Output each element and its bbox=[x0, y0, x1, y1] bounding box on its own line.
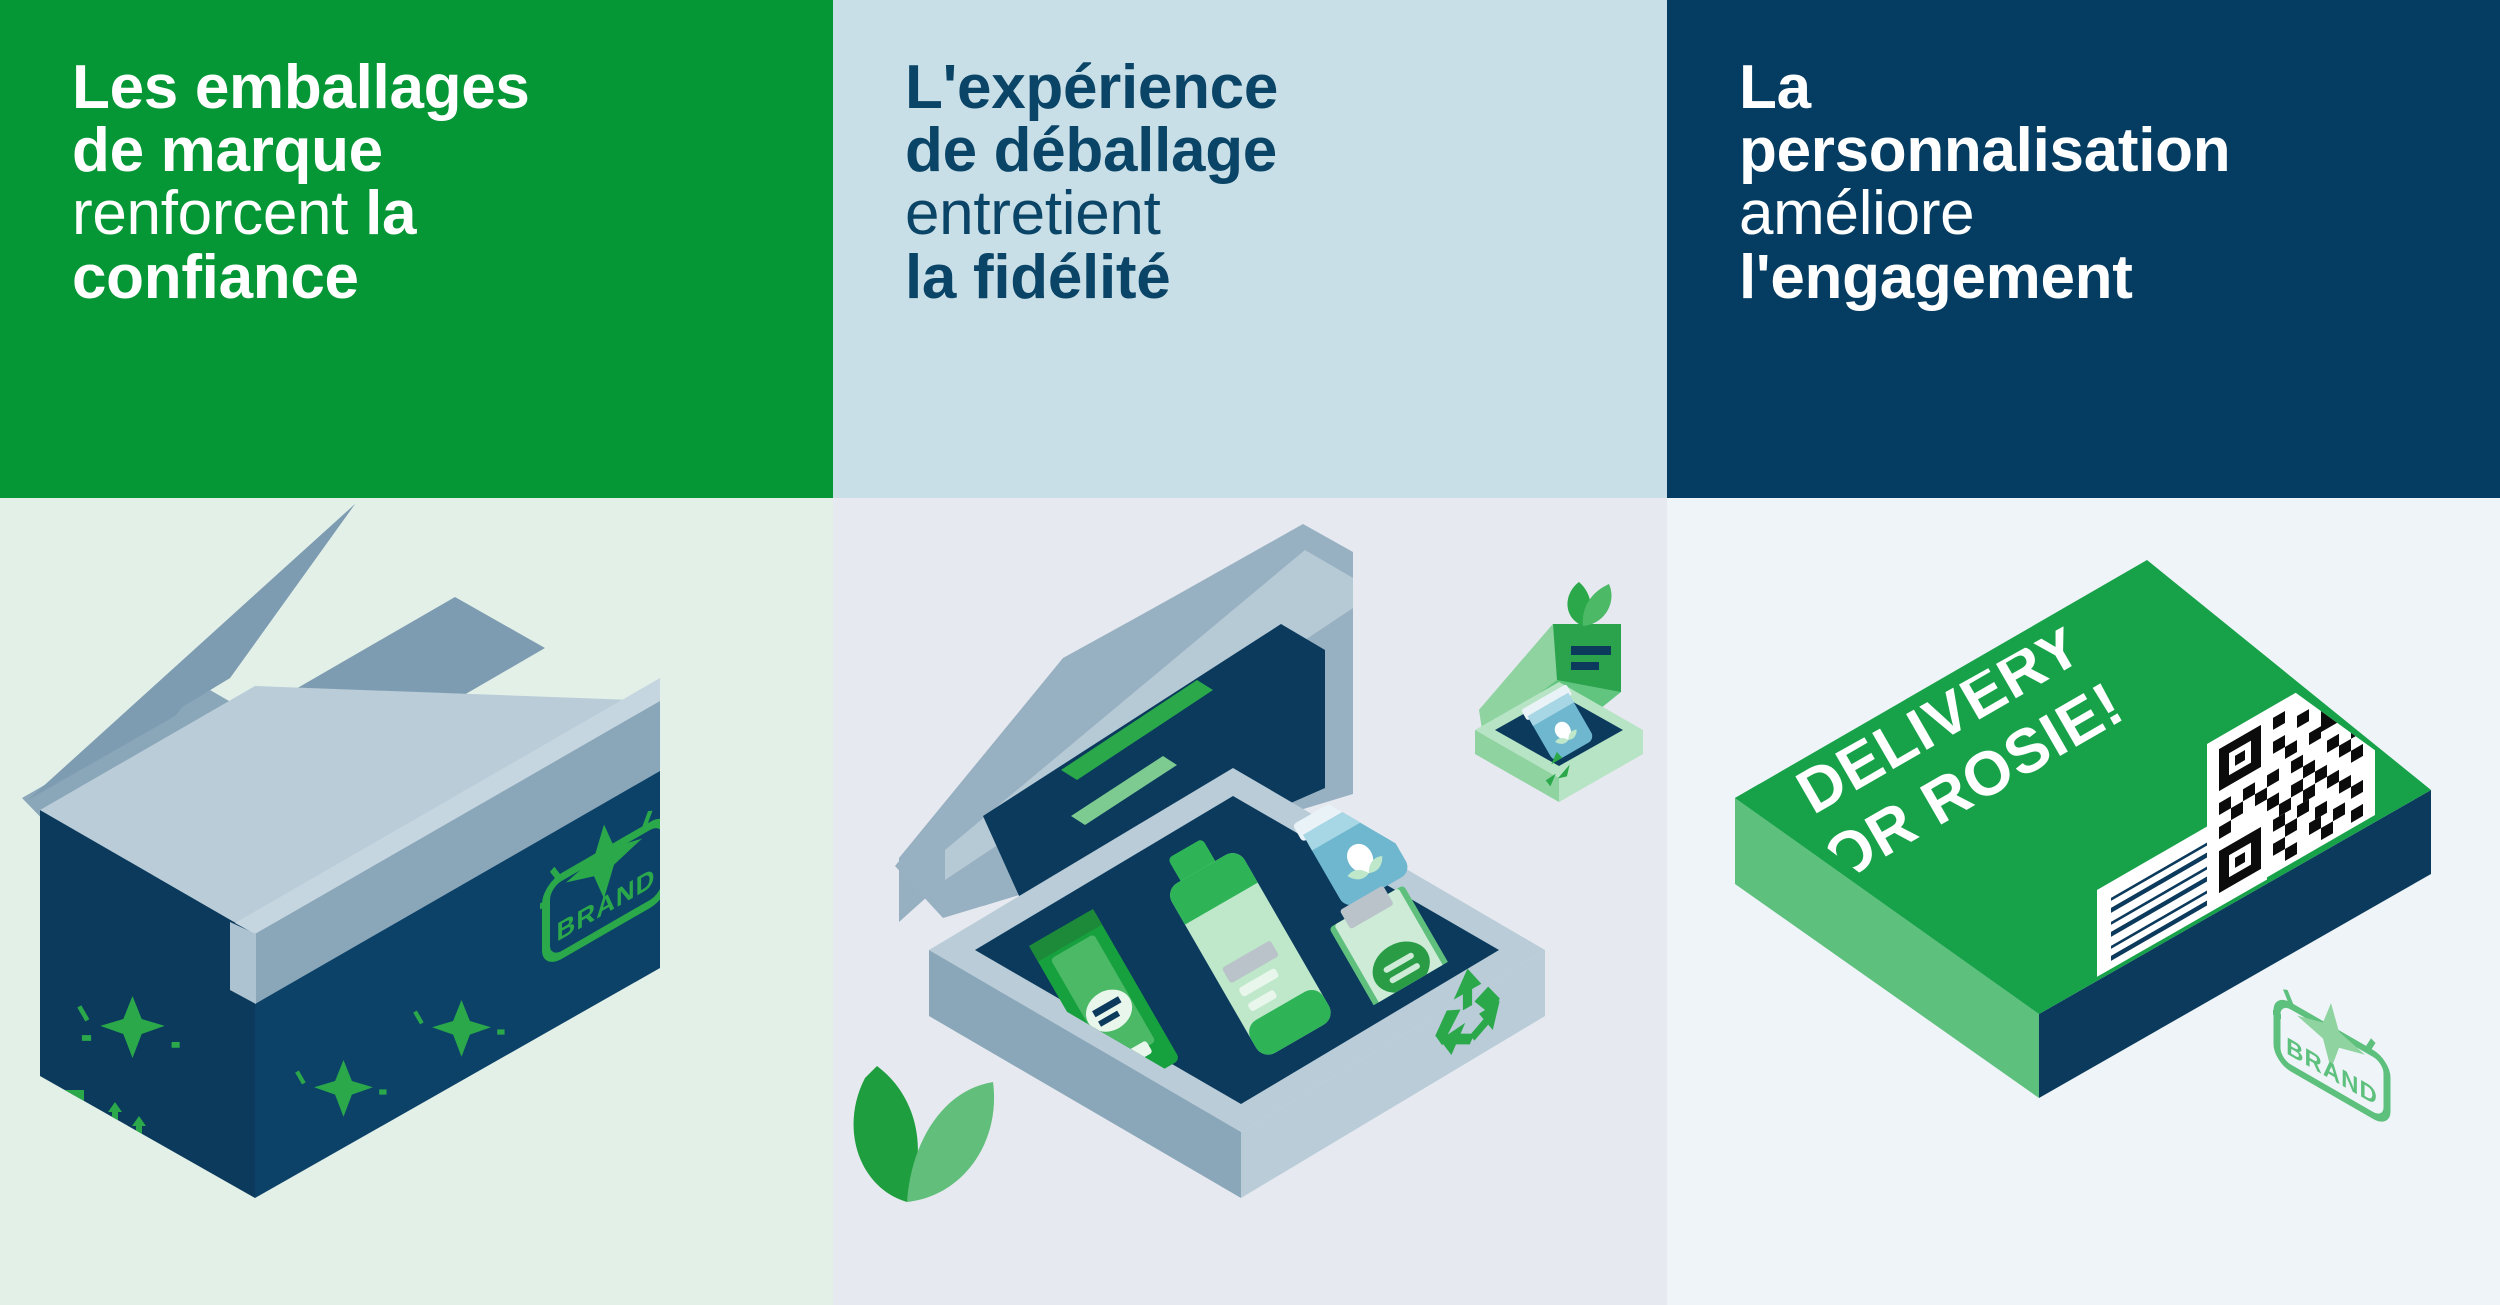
panel-3-title-line-2: personnalisation bbox=[1739, 116, 2230, 185]
panel-unboxing-experience: L'expérience de déballage entretient la … bbox=[833, 0, 1667, 1305]
box-flap-crease bbox=[230, 922, 256, 1004]
panel-3-title: La personnalisation améliore l'engagemen… bbox=[1739, 56, 2442, 309]
panel-3-title-line-1: La bbox=[1739, 53, 1811, 122]
open-shipping-box-illustration: BRAND bbox=[0, 498, 833, 1305]
infographic-board: Les emballages de marque renforcent la c… bbox=[0, 0, 2500, 1305]
panel-1-title-line-2: de marque bbox=[72, 116, 383, 185]
panel-personalisation: La personnalisation améliore l'engagemen… bbox=[1667, 0, 2500, 1305]
panel-3-header: La personnalisation améliore l'engagemen… bbox=[1667, 0, 2500, 498]
panel-2-title-line-1: L'expérience bbox=[905, 53, 1278, 122]
fragile-glass-icon bbox=[60, 1090, 86, 1145]
panel-3-title-line-3: améliore bbox=[1739, 179, 1974, 248]
panel-2-title-line-3: entretient bbox=[905, 179, 1161, 248]
panel-1-title-line-3-light: renforcent bbox=[72, 179, 348, 248]
panel-2-title-line-2: de déballage bbox=[905, 116, 1277, 185]
panel-3-illustration-area: SPECIAL DELIVERY FOR ROSIE! bbox=[1667, 498, 2500, 1305]
panel-brand-packaging: Les emballages de marque renforcent la c… bbox=[0, 0, 833, 1305]
leaf-icon bbox=[854, 1066, 995, 1202]
panel-2-illustration-area bbox=[833, 498, 1667, 1305]
open-gift-box-illustration bbox=[833, 498, 1667, 1305]
panel-1-header: Les emballages de marque renforcent la c… bbox=[0, 0, 833, 498]
star-burst-icon bbox=[132, 1188, 213, 1247]
panel-1-title-line-1: Les emballages bbox=[72, 53, 530, 122]
brand-badge: BRAND bbox=[2273, 970, 2387, 1124]
personalised-mailer-illustration: SPECIAL DELIVERY FOR ROSIE! bbox=[1667, 498, 2500, 1305]
mini-lid-bar-1 bbox=[1571, 646, 1611, 655]
panel-1-title-line-4: confiance bbox=[72, 243, 359, 312]
mini-gift-box bbox=[1475, 582, 1643, 802]
panel-2-title-line-4: la fidélité bbox=[905, 243, 1170, 312]
mini-lid-bar-2 bbox=[1571, 662, 1599, 670]
panel-3-title-line-4: l'engagement bbox=[1739, 243, 2133, 312]
panel-1-illustration-area: BRAND bbox=[0, 498, 833, 1305]
panel-2-header: L'expérience de déballage entretient la … bbox=[833, 0, 1667, 498]
leaf-icon bbox=[1567, 582, 1611, 626]
panel-1-title: Les emballages de marque renforcent la c… bbox=[72, 56, 775, 309]
panel-2-title: L'expérience de déballage entretient la … bbox=[905, 56, 1609, 309]
panel-1-title-line-3-bold: la bbox=[365, 179, 416, 248]
